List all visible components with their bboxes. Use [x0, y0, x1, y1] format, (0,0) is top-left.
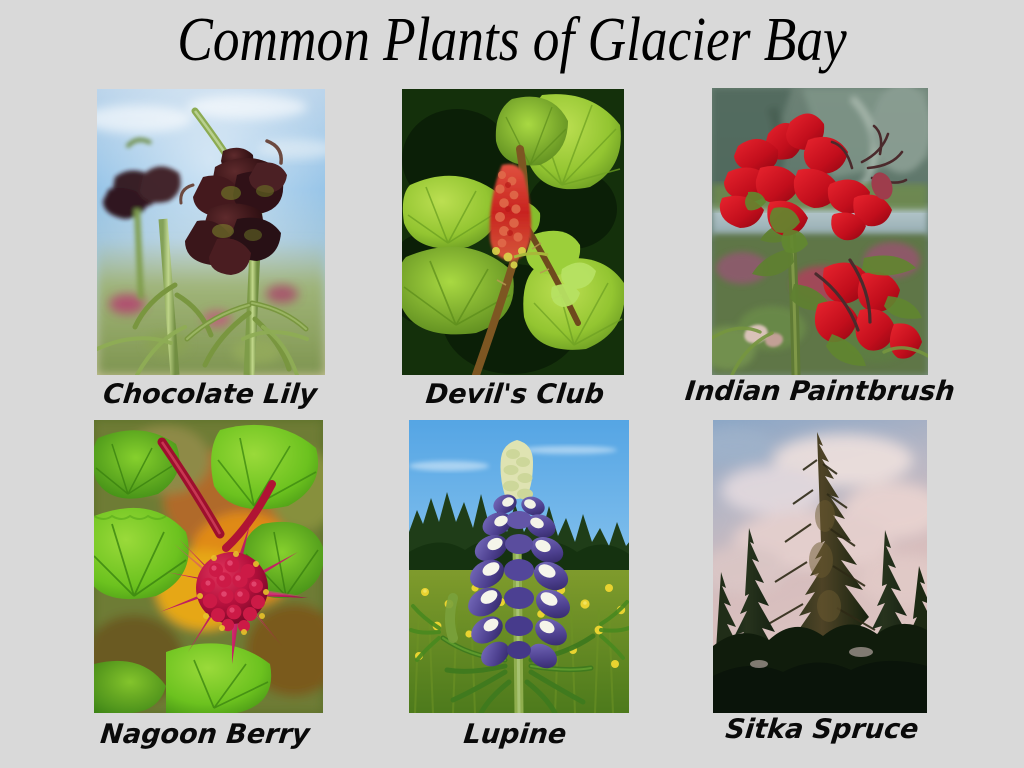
gallery-caption-devils-club: Devil's Club — [368, 380, 661, 410]
slide-canvas: Common Plants of Glacier Bay — [0, 0, 1024, 768]
gallery-caption-nagoon-berry: Nagoon Berry — [53, 720, 356, 750]
gallery-caption-chocolate-lily: Chocolate Lily — [58, 380, 361, 410]
gallery-caption-lupine: Lupine — [368, 720, 661, 750]
chocolate-lily-photo[interactable] — [97, 89, 325, 375]
devils-club-photo[interactable] — [402, 89, 624, 375]
plant-gallery: Chocolate Lily — [0, 0, 1024, 768]
nagoon-berry-photo[interactable] — [94, 420, 323, 713]
indian-paintbrush-photo[interactable] — [712, 88, 928, 375]
sitka-spruce-photo[interactable] — [713, 420, 927, 713]
lupine-photo[interactable] — [409, 420, 629, 713]
gallery-caption-sitka-spruce: Sitka Spruce — [670, 715, 973, 745]
gallery-caption-indian-paintbrush: Indian Paintbrush — [673, 377, 966, 407]
